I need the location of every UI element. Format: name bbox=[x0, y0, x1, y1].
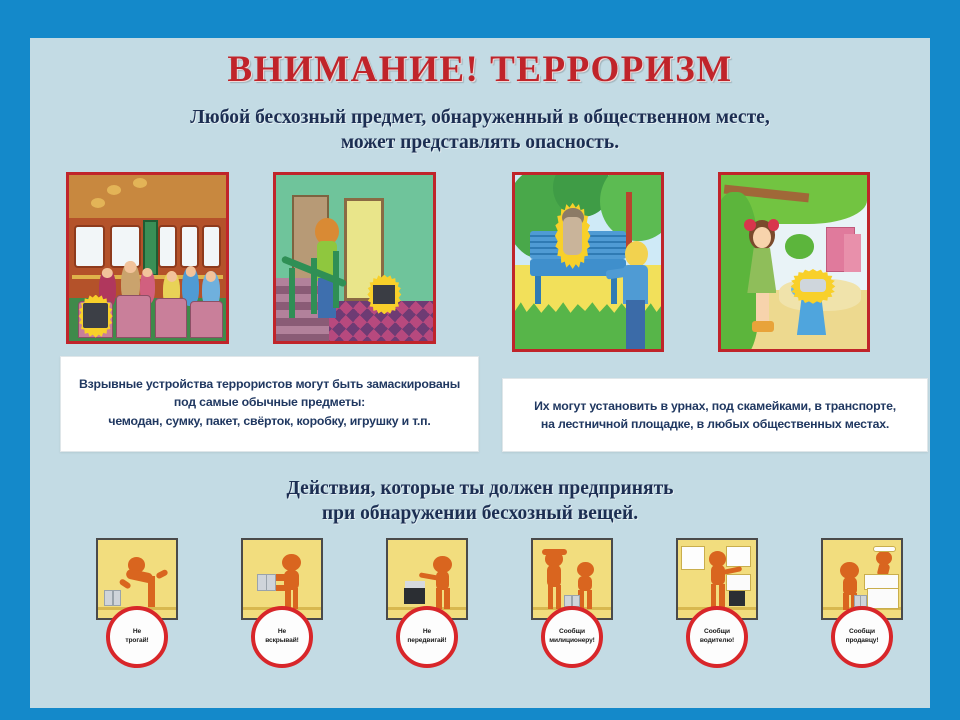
status-badge: Сообщи водителю! bbox=[686, 606, 748, 668]
status-badge: Сообщи милиционеру! bbox=[541, 606, 603, 668]
badge-line-1: Сообщи bbox=[846, 628, 878, 635]
caption-left-line-3: чемодан, сумку, пакет, свёрток, коробку,… bbox=[69, 412, 470, 430]
action-cards-row: Не трогай! bbox=[30, 538, 930, 678]
suspicious-bag-icon bbox=[373, 285, 395, 305]
illustration-row bbox=[30, 164, 930, 354]
badge-line-1: Не bbox=[130, 628, 144, 635]
caption-box-placement-locations: Их могут установить в урнах, под скамейк… bbox=[502, 378, 928, 452]
badge-line-2: вскрывай! bbox=[262, 637, 302, 644]
poster-subtitle: Любой бесхозный предмет, обнаруженный в … bbox=[30, 106, 930, 156]
action-card-do-not-open: Не вскрывай! bbox=[241, 538, 323, 620]
section-heading-actions: Действия, которые ты должен предпринять … bbox=[30, 476, 930, 527]
badge-line-2: водителю! bbox=[697, 637, 737, 644]
caption-left-line-2: под самые обычные предметы: bbox=[69, 393, 470, 411]
page-title: ВНИМАНИЕ! ТЕРРОРИЗМ bbox=[30, 38, 930, 91]
badge-line-1: Не bbox=[420, 628, 434, 635]
status-badge: Сообщи продавцу! bbox=[831, 606, 893, 668]
action-card-do-not-touch: Не трогай! bbox=[96, 538, 178, 620]
badge-line-2: передвигай! bbox=[404, 637, 449, 644]
caption-box-disguised-objects: Взрывные устройства террористов могут бы… bbox=[60, 356, 479, 452]
badge-line-1: Сообщи bbox=[701, 628, 733, 635]
illustration-trash-bin-package bbox=[718, 172, 870, 352]
subtitle-line-2: может представлять опасность. bbox=[120, 131, 840, 156]
status-badge: Не вскрывай! bbox=[251, 606, 313, 668]
badge-line-2: милиционеру! bbox=[546, 637, 598, 644]
illustration-stairwell-bag bbox=[273, 172, 436, 344]
badge-line-1: Сообщи bbox=[556, 628, 588, 635]
badge-line-2: продавцу! bbox=[843, 637, 882, 644]
illustration-park-bench-toy bbox=[512, 172, 664, 352]
status-badge: Не трогай! bbox=[106, 606, 168, 668]
action-card-tell-seller: Сообщи продавцу! bbox=[821, 538, 903, 620]
action-card-tell-police: Сообщи милиционеру! bbox=[531, 538, 613, 620]
poster-frame: ВНИМАНИЕ! ТЕРРОРИЗМ Любой бесхозный пред… bbox=[0, 0, 960, 720]
caption-right-line-2: на лестничной площадке, в любых обществе… bbox=[511, 415, 919, 433]
poster-body: ВНИМАНИЕ! ТЕРРОРИЗМ Любой бесхозный пред… bbox=[30, 38, 930, 708]
caption-right-line-1: Их могут установить в урнах, под скамейк… bbox=[511, 397, 919, 415]
status-badge: Не передвигай! bbox=[396, 606, 458, 668]
suspicious-package-icon bbox=[800, 279, 826, 291]
section-heading-line-1: Действия, которые ты должен предпринять bbox=[30, 476, 930, 501]
action-card-do-not-move: Не передвигай! bbox=[386, 538, 468, 620]
badge-line-1: Не bbox=[275, 628, 289, 635]
subtitle-line-1: Любой бесхозный предмет, обнаруженный в … bbox=[120, 106, 840, 131]
badge-line-2: трогай! bbox=[122, 637, 151, 644]
section-heading-line-2: при обнаружении бесхозный вещей. bbox=[30, 501, 930, 526]
abandoned-toy-bear-icon bbox=[563, 217, 582, 255]
action-card-tell-driver: Сообщи водителю! bbox=[676, 538, 758, 620]
suspicious-package-icon bbox=[83, 303, 108, 328]
caption-left-line-1: Взрывные устройства террористов могут бы… bbox=[69, 375, 470, 393]
illustration-bus-interior-bag bbox=[66, 172, 229, 344]
